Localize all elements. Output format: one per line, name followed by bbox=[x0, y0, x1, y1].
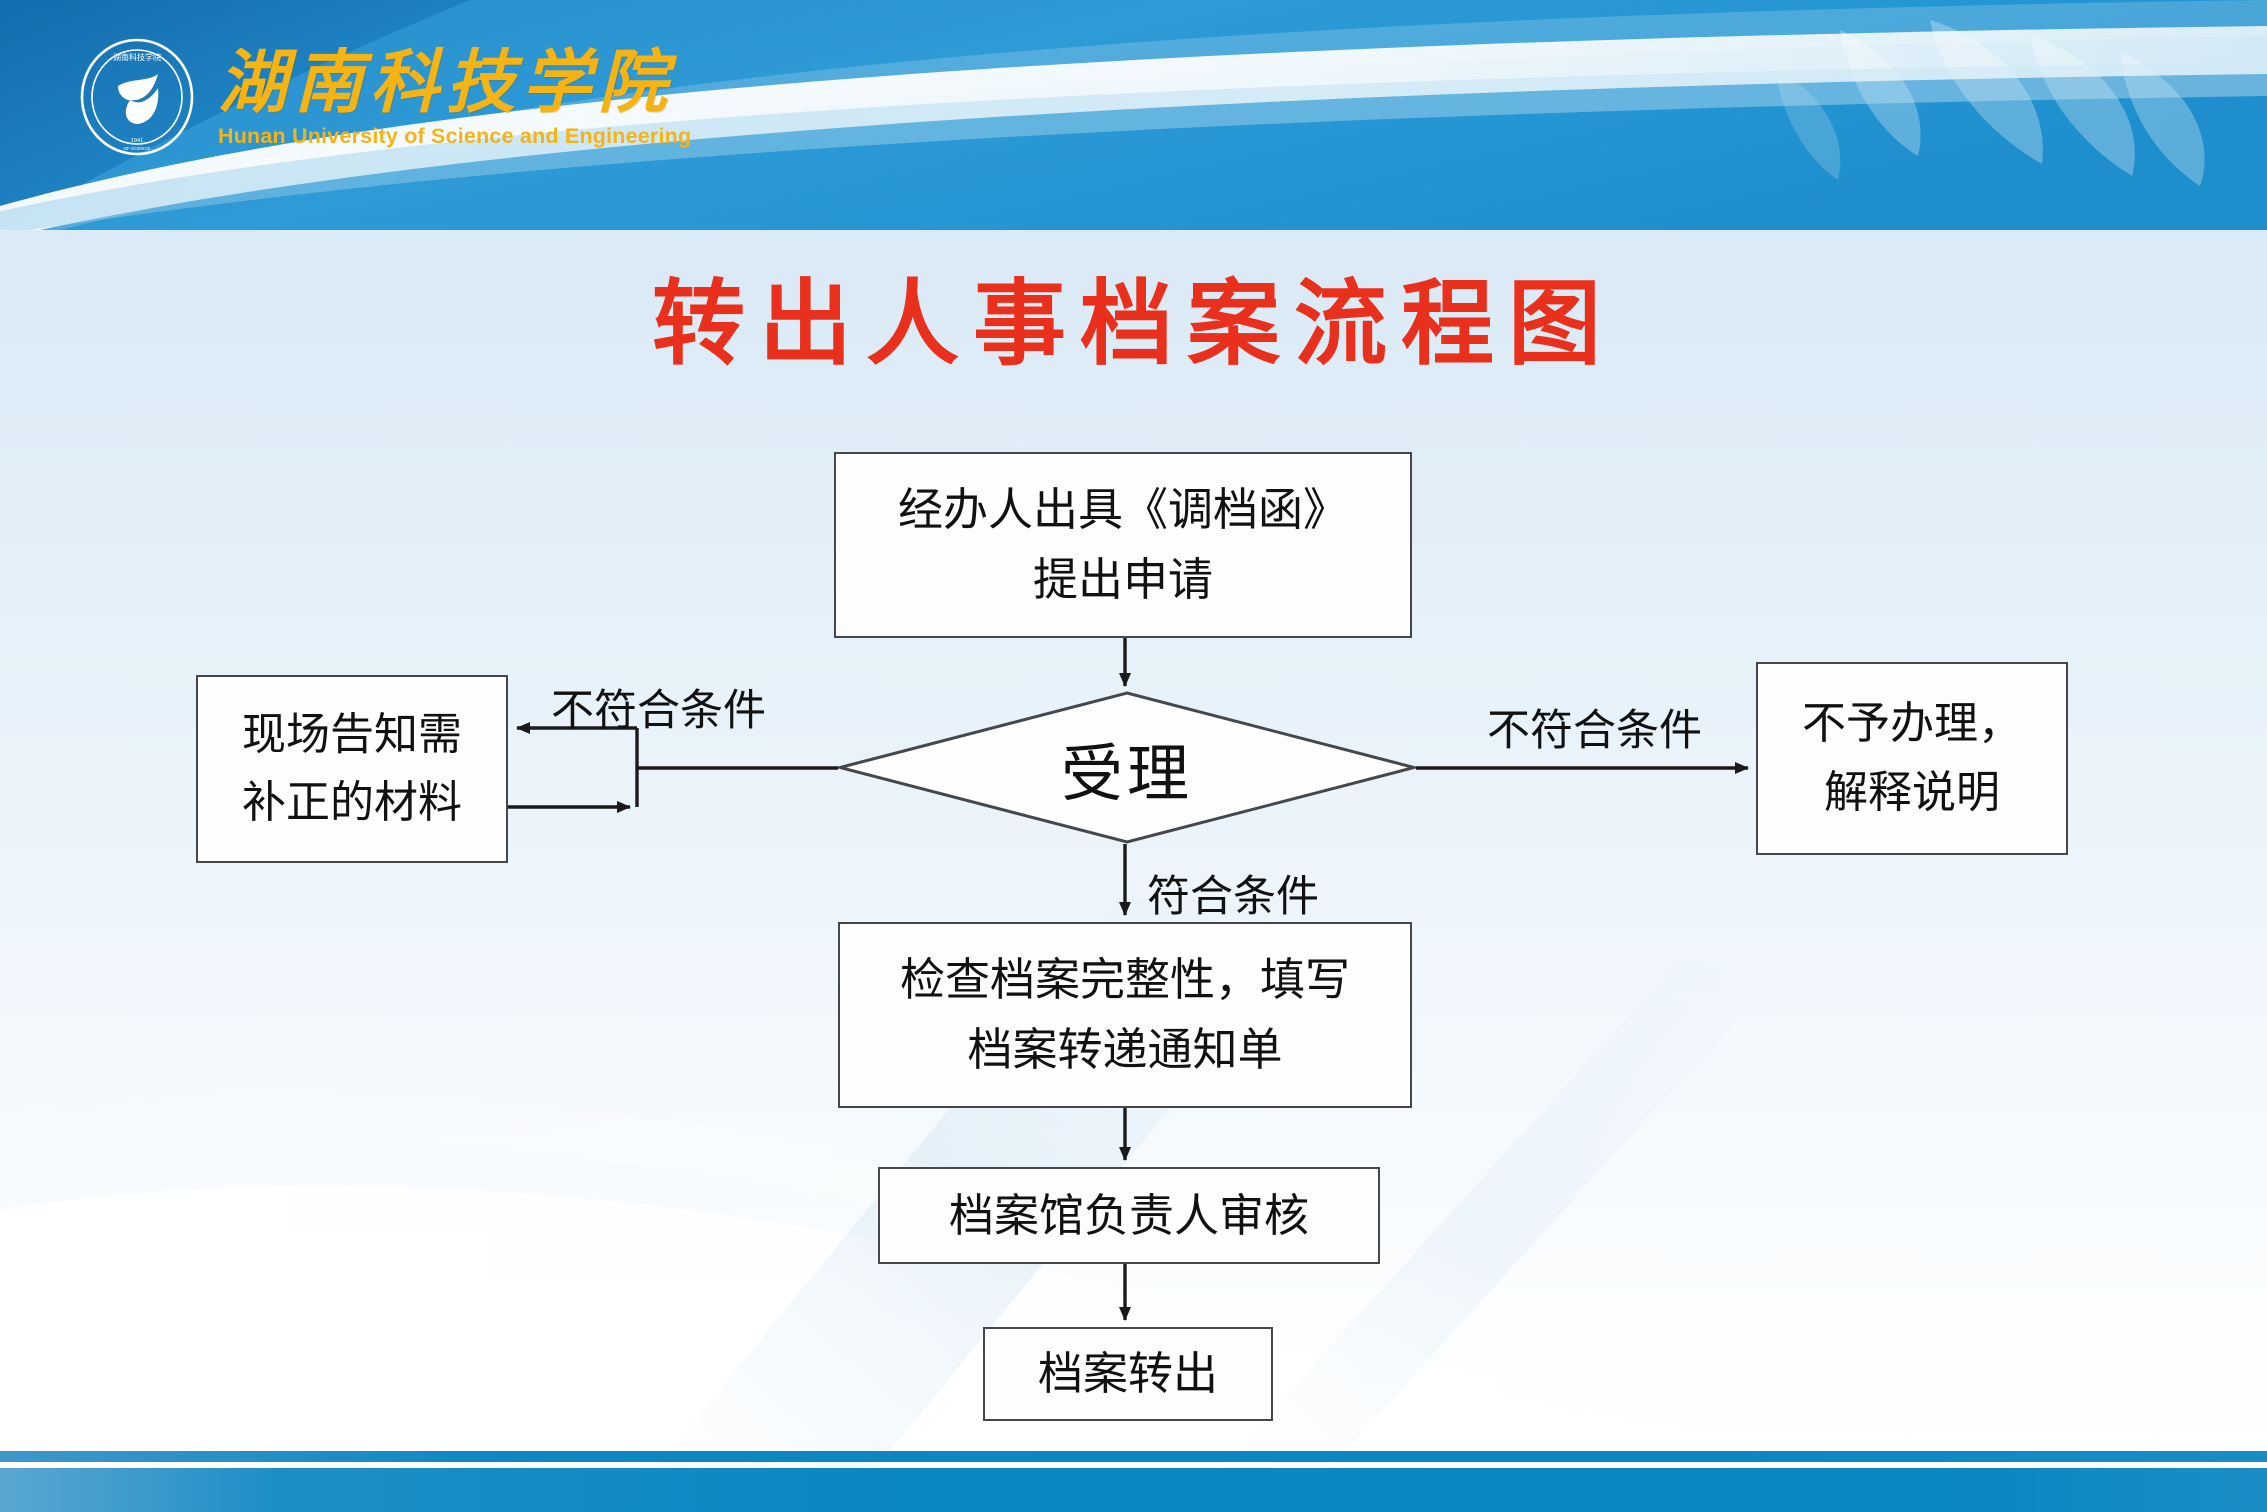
node-supplement-line1: 现场告知需 bbox=[242, 701, 462, 769]
node-apply-line1: 经办人出具《调档函》 bbox=[898, 475, 1348, 545]
node-transfer-out-line1: 档案转出 bbox=[1038, 1339, 1218, 1409]
node-check-line2: 档案转递通知单 bbox=[967, 1015, 1282, 1085]
edge-label-left-not-qualified: 不符合条件 bbox=[551, 676, 766, 738]
node-check-line1: 检查档案完整性，填写 bbox=[900, 945, 1350, 1015]
edge-label-qualified: 符合条件 bbox=[1147, 862, 1319, 924]
node-reject[interactable]: 不予办理， 解释说明 bbox=[1756, 662, 2068, 855]
node-reject-line2: 解释说明 bbox=[1824, 759, 2000, 827]
node-transfer-out[interactable]: 档案转出 bbox=[983, 1327, 1273, 1421]
node-decision-label: 受理 bbox=[838, 691, 1416, 844]
poster-canvas: 湖南科技学院 1941 OF SCIENCE 湖南科技学院 Hunan Univ… bbox=[0, 0, 2267, 1512]
node-reject-line1: 不予办理， bbox=[1802, 690, 2022, 758]
node-supplement[interactable]: 现场告知需 补正的材料 bbox=[196, 675, 508, 863]
node-decision[interactable]: 受理 bbox=[838, 691, 1416, 844]
node-supplement-line2: 补正的材料 bbox=[242, 769, 462, 837]
node-review[interactable]: 档案馆负责人审核 bbox=[878, 1167, 1380, 1264]
node-check[interactable]: 检查档案完整性，填写 档案转递通知单 bbox=[838, 922, 1412, 1108]
footer-stripe-thin bbox=[0, 1451, 2267, 1462]
node-apply[interactable]: 经办人出具《调档函》 提出申请 bbox=[834, 452, 1412, 638]
edge-label-right-not-qualified: 不符合条件 bbox=[1487, 696, 1702, 758]
footer-stripe-thick bbox=[0, 1468, 2267, 1512]
flowchart: 经办人出具《调档函》 提出申请 受理 现场告知需 补正的材料 不予办理， 解释说… bbox=[0, 0, 2267, 1512]
node-review-line1: 档案馆负责人审核 bbox=[949, 1181, 1309, 1251]
node-apply-line2: 提出申请 bbox=[1033, 545, 1213, 615]
